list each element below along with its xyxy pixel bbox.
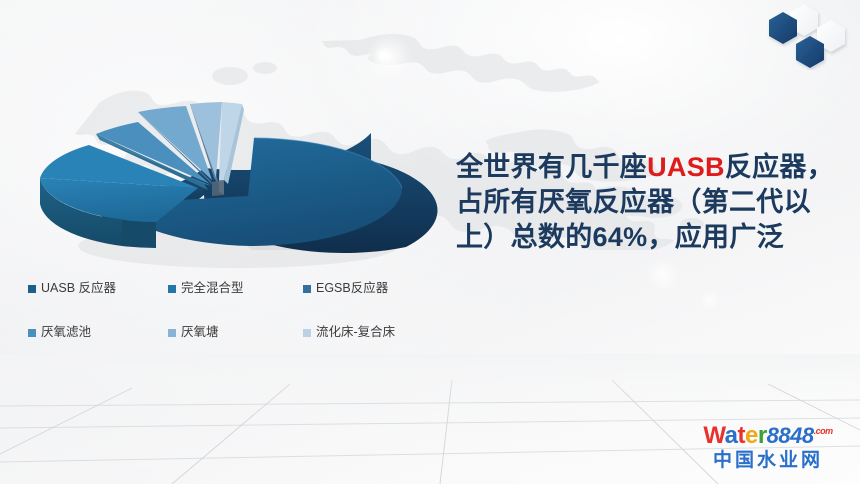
legend-label-wanquanhunheixing: 完全混合型 — [181, 282, 244, 295]
legend-label-liuhuachuang: 流化床-复合床 — [316, 326, 395, 339]
legend-label-yanyangtang: 厌氧塘 — [181, 326, 219, 339]
logo-number: 8848 — [767, 423, 814, 448]
light-sparkle-tertiary — [700, 290, 720, 310]
callout-highlight: UASB — [647, 152, 725, 182]
legend-item-wanquanhunheixing[interactable]: 完全混合型 — [168, 276, 303, 300]
legend-swatch-liuhuachuang — [303, 329, 311, 337]
legend-item-uasb[interactable]: UASB 反应器 — [28, 276, 168, 300]
light-sparkle-large — [366, 34, 412, 80]
legend-label-egsb: EGSB反应器 — [316, 282, 388, 295]
legend-item-yanyangtang[interactable]: 厌氧塘 — [168, 320, 303, 344]
logo-letter-w: W — [703, 422, 724, 449]
legend-label-yanyanglvchi: 厌氧滤池 — [41, 326, 91, 339]
legend-swatch-egsb — [303, 285, 311, 293]
logo-letter-a: a — [725, 422, 738, 449]
site-logo: Water8848.com 中国水业网 — [692, 418, 844, 472]
logo-tld: .com — [814, 426, 833, 436]
chart-legend: UASB 反应器 完全混合型 EGSB反应器 厌氧滤池 厌氧塘 流化床-复合床 — [28, 276, 448, 364]
legend-swatch-uasb — [28, 285, 36, 293]
light-sparkle-point — [380, 52, 387, 59]
legend-item-liuhuachuang[interactable]: 流化床-复合床 — [303, 320, 443, 344]
callout-part1: 全世界有几千座 — [456, 152, 647, 182]
logo-wordmark: Water8848.com — [692, 418, 844, 449]
logo-chinese-name: 中国水业网 — [692, 449, 844, 472]
legend-swatch-yanyanglvchi — [28, 329, 36, 337]
logo-letter-t: t — [737, 422, 745, 449]
hexagon-decoration — [758, 2, 854, 70]
legend-item-egsb[interactable]: EGSB反应器 — [303, 276, 443, 300]
slide-canvas: UASB 反应器 完全混合型 EGSB反应器 厌氧滤池 厌氧塘 流化床-复合床 … — [0, 0, 860, 484]
logo-letter-r: r — [758, 422, 767, 449]
light-sparkle-secondary — [646, 258, 680, 292]
legend-label-uasb: UASB 反应器 — [41, 282, 116, 295]
legend-swatch-wanquanhunheixing — [168, 285, 176, 293]
logo-letter-e: e — [745, 422, 758, 449]
legend-item-yanyanglvchi[interactable]: 厌氧滤池 — [28, 320, 168, 344]
callout-text: 全世界有几千座UASB反应器，占所有厌氧反应器（第二代以上）总数的64%，应用广… — [456, 150, 836, 255]
pie-chart — [26, 100, 436, 275]
legend-swatch-yanyangtang — [168, 329, 176, 337]
